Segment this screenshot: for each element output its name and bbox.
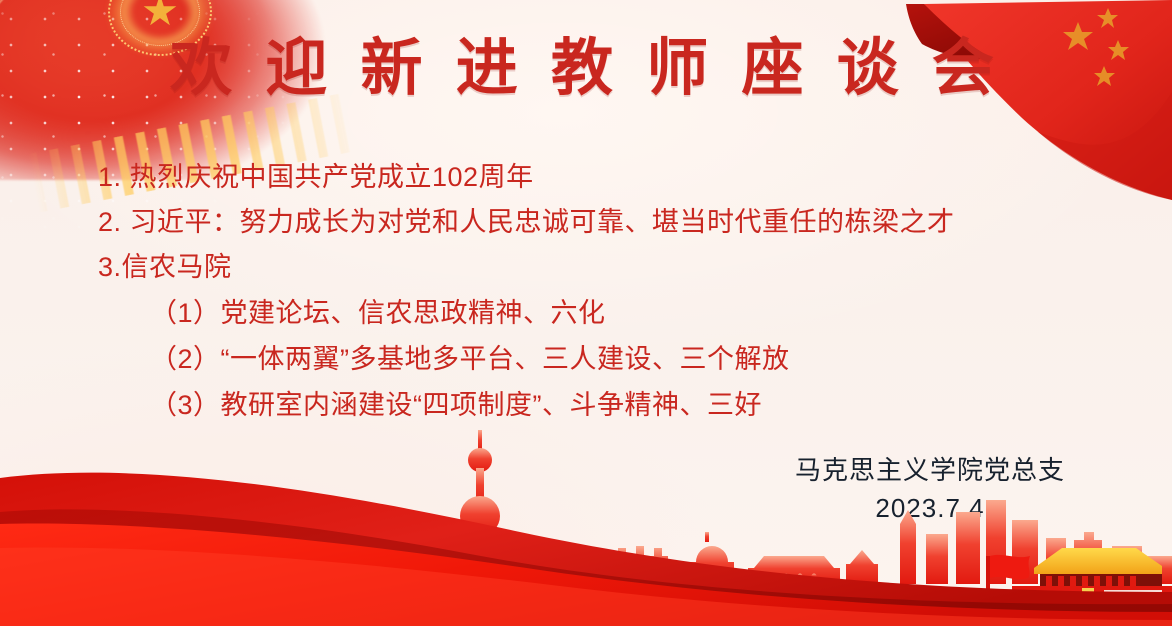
list-item: （2）“一体两翼”多基地多平台、三人建设、三个解放 — [150, 336, 1098, 382]
list-item: 3.信农马院 — [98, 245, 1098, 290]
bottom-decoration — [0, 416, 1172, 626]
page-title: 欢 迎 新 进 教 师 座 谈 会 — [0, 38, 1172, 100]
list-item: 2. 习近平：努力成长为对党和人民忠诚可靠、堪当时代重任的栋梁之才 — [98, 200, 1098, 245]
list-item: （1）党建论坛、信农思政精神、六化 — [150, 290, 1098, 336]
content-list: 1. 热烈庆祝中国共产党成立102周年 2. 习近平：努力成长为对党和人民忠诚可… — [98, 155, 1098, 428]
poster-canvas: 欢 迎 新 进 教 师 座 谈 会 1. 热烈庆祝中国共产党成立102周年 2.… — [0, 0, 1172, 626]
list-item: 1. 热烈庆祝中国共产党成立102周年 — [98, 155, 1098, 200]
